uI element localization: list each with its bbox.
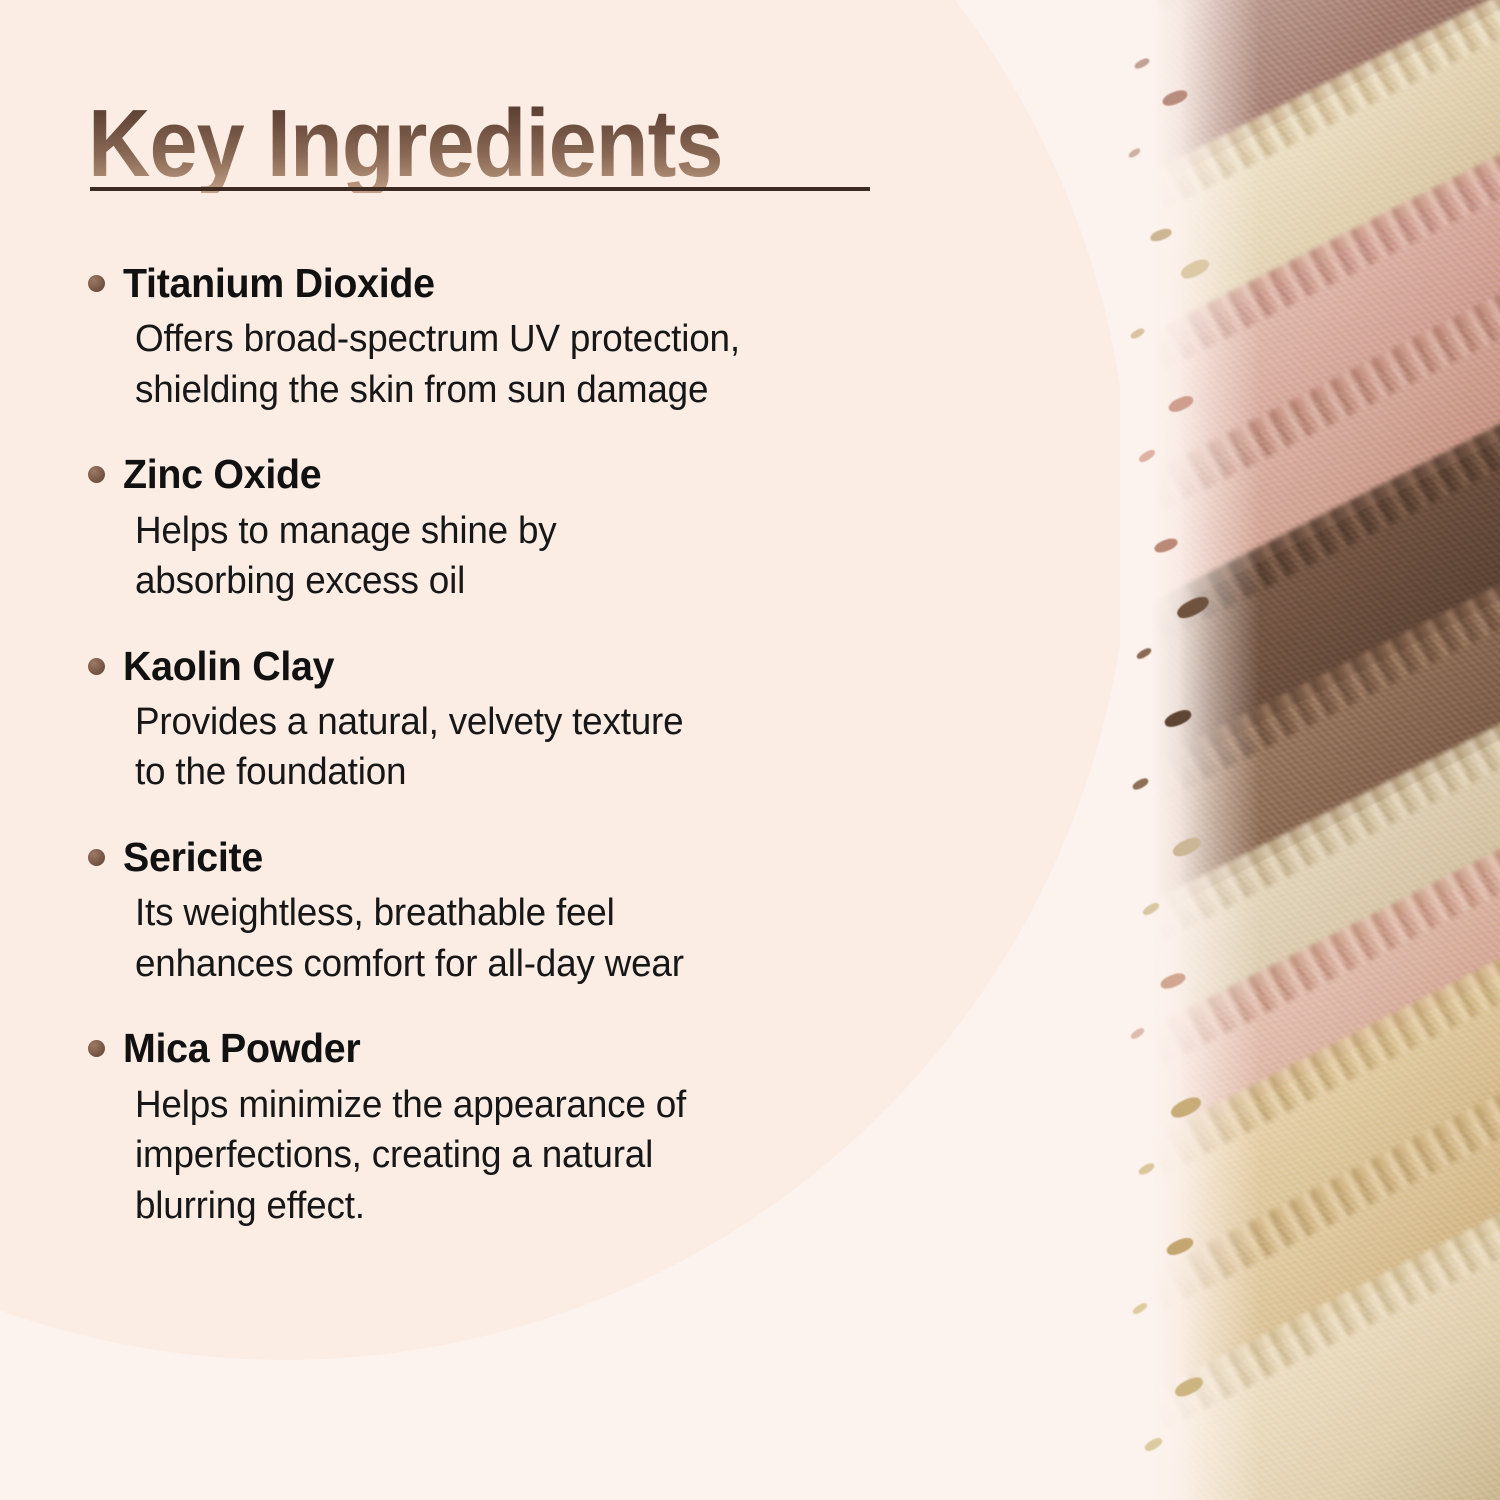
- list-item: SericiteIts weightless, breathable feele…: [88, 832, 988, 989]
- ingredient-heading-row: Kaolin Clay: [88, 641, 988, 692]
- ingredient-name: Mica Powder: [123, 1023, 360, 1074]
- description-line: Offers broad-spectrum UV protection,: [135, 314, 940, 365]
- bullet-dot-icon: [88, 1040, 105, 1057]
- ingredient-description: Offers broad-spectrum UV protection,shie…: [135, 314, 940, 415]
- powder-swatch-image: [1120, 0, 1500, 1500]
- title-underline: [90, 187, 870, 191]
- description-line: blurring effect.: [135, 1181, 940, 1232]
- description-line: imperfections, creating a natural: [135, 1130, 940, 1181]
- list-item: Titanium DioxideOffers broad-spectrum UV…: [88, 258, 988, 415]
- description-line: to the foundation: [135, 747, 940, 798]
- ingredient-description: Helps to manage shine byabsorbing excess…: [135, 506, 940, 607]
- page-title-wrapper: Key Ingredients: [88, 95, 888, 193]
- page-title: Key Ingredients: [88, 95, 808, 193]
- bullet-dot-icon: [88, 275, 105, 292]
- list-item: Zinc OxideHelps to manage shine byabsorb…: [88, 449, 988, 606]
- description-line: Helps to manage shine by: [135, 506, 940, 557]
- list-item: Mica PowderHelps minimize the appearance…: [88, 1023, 988, 1231]
- list-item: Kaolin ClayProvides a natural, velvety t…: [88, 641, 988, 798]
- ingredient-description: Provides a natural, velvety textureto th…: [135, 697, 940, 798]
- infographic-canvas: Key Ingredients Titanium DioxideOffers b…: [0, 0, 1500, 1500]
- ingredient-name: Kaolin Clay: [123, 641, 334, 692]
- ingredient-name: Titanium Dioxide: [123, 258, 435, 309]
- content-column: Key Ingredients Titanium DioxideOffers b…: [0, 0, 1060, 1500]
- ingredient-name: Zinc Oxide: [123, 449, 321, 500]
- ingredient-heading-row: Sericite: [88, 832, 988, 883]
- bullet-dot-icon: [88, 849, 105, 866]
- description-line: Helps minimize the appearance of: [135, 1080, 940, 1131]
- ingredient-heading-row: Mica Powder: [88, 1023, 988, 1074]
- ingredient-description: Its weightless, breathable feelenhances …: [135, 888, 940, 989]
- bullet-dot-icon: [88, 466, 105, 483]
- description-line: absorbing excess oil: [135, 556, 940, 607]
- description-line: Provides a natural, velvety texture: [135, 697, 940, 748]
- description-line: shielding the skin from sun damage: [135, 365, 940, 416]
- ingredient-name: Sericite: [123, 832, 263, 883]
- bullet-dot-icon: [88, 658, 105, 675]
- ingredient-heading-row: Titanium Dioxide: [88, 258, 988, 309]
- ingredient-description: Helps minimize the appearance ofimperfec…: [135, 1080, 940, 1232]
- ingredient-heading-row: Zinc Oxide: [88, 449, 988, 500]
- description-line: Its weightless, breathable feel: [135, 888, 940, 939]
- ingredient-list: Titanium DioxideOffers broad-spectrum UV…: [88, 258, 988, 1265]
- description-line: enhances comfort for all-day wear: [135, 939, 940, 990]
